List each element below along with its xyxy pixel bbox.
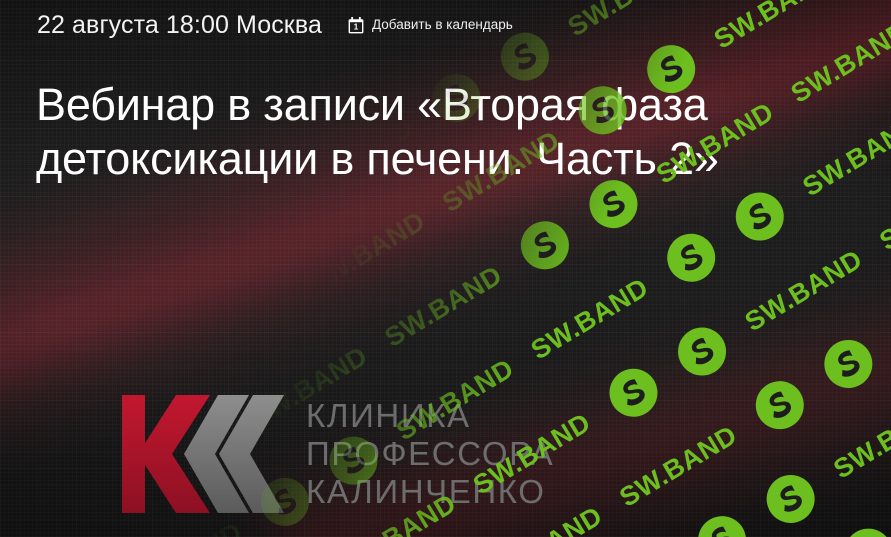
add-to-calendar-button[interactable]: 1 Добавить в календарь [348,17,513,34]
clinic-logo: КЛИНИКА ПРОФЕССОРА КАЛИНЧЕНКО [118,393,638,518]
calendar-icon: 1 [348,17,364,34]
kk-chevron-logo-icon [118,393,286,515]
page-title: Вебинар в записи «Вторая фаза детоксикац… [36,78,796,186]
add-to-calendar-label: Добавить в календарь [372,17,513,33]
event-datetime: 22 августа 18:00 Москва [37,10,322,40]
clinic-logo-text: КЛИНИКА ПРОФЕССОРА КАЛИНЧЕНКО [306,397,554,511]
clinic-logo-line-1: КЛИНИКА [306,397,554,435]
event-header: 22 августа 18:00 Москва 1 Добавить в кал… [37,10,513,40]
webinar-banner: 22 августа 18:00 Москва 1 Добавить в кал… [0,0,891,537]
clinic-logo-line-3: КАЛИНЧЕНКО [306,473,554,511]
clinic-logo-line-2: ПРОФЕССОРА [306,435,554,473]
svg-text:1: 1 [354,22,359,31]
